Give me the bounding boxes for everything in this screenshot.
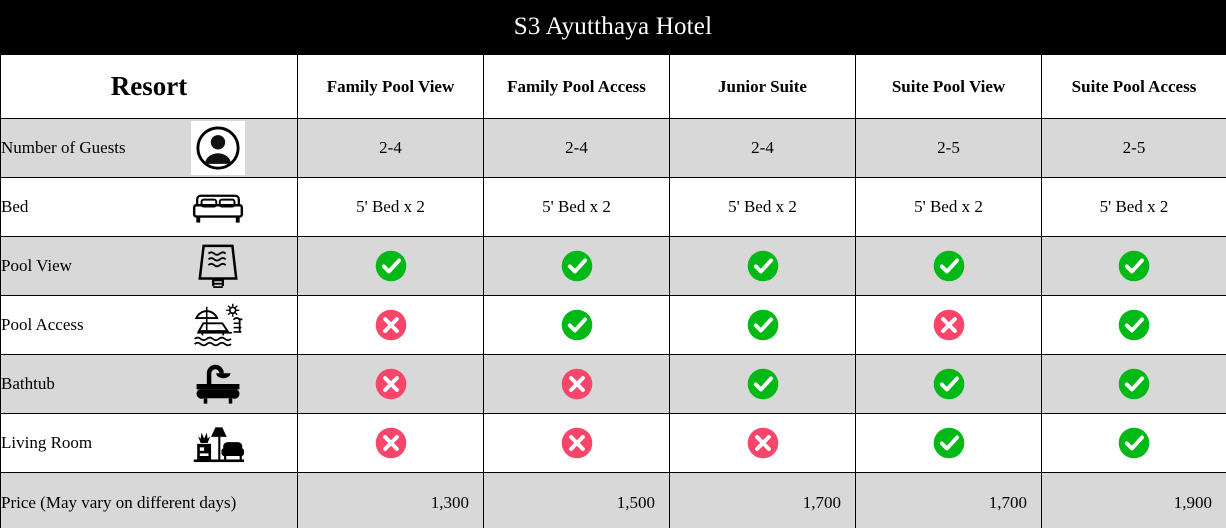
check-icon (670, 355, 856, 414)
row-label-cell: Pool View (1, 237, 298, 296)
cross-icon (670, 414, 856, 473)
table-body: Number of Guests 2-42-42-42-52-5Bed 5' B… (1, 119, 1226, 528)
column-header-2: Junior Suite (670, 55, 856, 119)
value-cell: 5' Bed x 2 (1042, 178, 1226, 237)
column-header-0: Family Pool View (298, 55, 484, 119)
cross-icon (856, 296, 1042, 355)
value-cell: 2-4 (298, 119, 484, 178)
pool-access-icon (191, 298, 245, 352)
row-label: Living Room (1, 433, 92, 453)
check-icon (298, 237, 484, 296)
row-label-cell: Number of Guests (1, 119, 298, 178)
bathtub-icon (191, 357, 245, 411)
column-header-3: Suite Pool View (856, 55, 1042, 119)
row-label-cell: Pool Access (1, 296, 298, 355)
value-cell: 2-5 (1042, 119, 1226, 178)
row-label-cell: Bed (1, 178, 298, 237)
room-comparison-table: Resort Family Pool View Family Pool Acce… (0, 54, 1226, 528)
cross-icon (484, 414, 670, 473)
check-icon (1042, 296, 1226, 355)
row-label-cell: Price (May vary on different days) (1, 473, 298, 528)
row-label: Number of Guests (1, 138, 126, 158)
check-icon (1042, 237, 1226, 296)
page-title: S3 Ayutthaya Hotel (514, 13, 713, 41)
living-room-icon (191, 416, 245, 470)
comparison-sheet: S3 Ayutthaya Hotel Resort Family Pool Vi… (0, 0, 1226, 528)
table-row: Number of Guests 2-42-42-42-52-5 (1, 119, 1226, 178)
value-cell: 5' Bed x 2 (856, 178, 1042, 237)
price-cell: 1,700 (856, 473, 1042, 528)
pool-view-icon (191, 239, 245, 293)
column-header-1: Family Pool Access (484, 55, 670, 119)
row-label: Bathtub (1, 374, 55, 394)
row-label-cell: Bathtub (1, 355, 298, 414)
value-cell: 2-4 (670, 119, 856, 178)
check-icon (670, 237, 856, 296)
bed-icon (191, 180, 245, 234)
table-row: Price (May vary on different days)1,3001… (1, 473, 1226, 528)
person-icon (191, 121, 245, 175)
check-icon (856, 355, 1042, 414)
table-row: Pool Access (1, 296, 1226, 355)
table-row: Bathtub (1, 355, 1226, 414)
cross-icon (298, 296, 484, 355)
price-cell: 1,300 (298, 473, 484, 528)
page-title-bar: S3 Ayutthaya Hotel (0, 0, 1226, 54)
check-icon (856, 414, 1042, 473)
check-icon (670, 296, 856, 355)
value-cell: 5' Bed x 2 (298, 178, 484, 237)
value-cell: 5' Bed x 2 (670, 178, 856, 237)
column-header-4: Suite Pool Access (1042, 55, 1226, 119)
value-cell: 2-4 (484, 119, 670, 178)
check-icon (484, 296, 670, 355)
price-cell: 1,700 (670, 473, 856, 528)
cross-icon (298, 355, 484, 414)
row-label: Price (May vary on different days) (1, 493, 236, 513)
row-label-cell: Living Room (1, 414, 298, 473)
row-label: Pool View (1, 256, 72, 276)
check-icon (1042, 355, 1226, 414)
check-icon (1042, 414, 1226, 473)
check-icon (856, 237, 1042, 296)
check-icon (484, 237, 670, 296)
value-cell: 5' Bed x 2 (484, 178, 670, 237)
value-cell: 2-5 (856, 119, 1042, 178)
table-row: Living Room (1, 414, 1226, 473)
cross-icon (484, 355, 670, 414)
corner-header-resort: Resort (1, 55, 298, 119)
row-label: Bed (1, 197, 28, 217)
table-row: Bed 5' Bed x 25' Bed x 25' Bed x 25' Bed… (1, 178, 1226, 237)
table-header-row: Resort Family Pool View Family Pool Acce… (1, 55, 1226, 119)
table-row: Pool View (1, 237, 1226, 296)
cross-icon (298, 414, 484, 473)
price-cell: 1,500 (484, 473, 670, 528)
price-cell: 1,900 (1042, 473, 1226, 528)
row-label: Pool Access (1, 315, 84, 335)
